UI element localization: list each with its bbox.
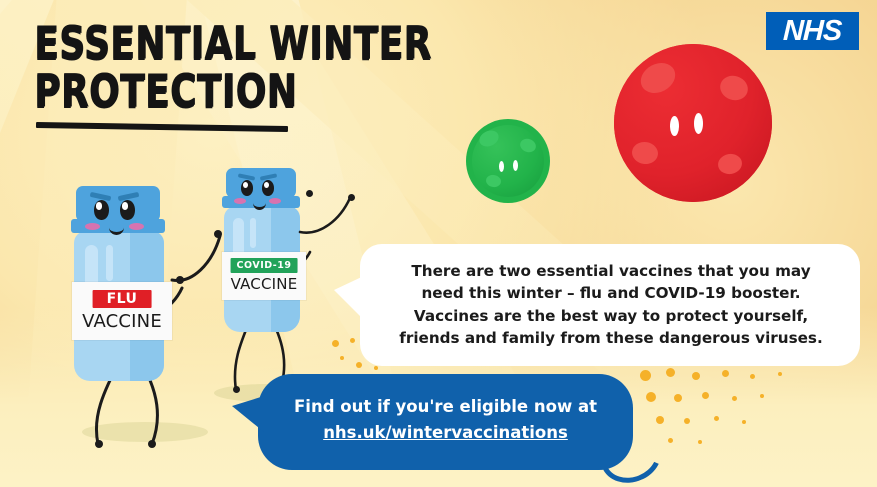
flu-vial-right-eye	[120, 200, 135, 220]
flu-vial-left-blush	[85, 223, 100, 230]
info-speech-bubble: There are two essential vaccines that yo…	[360, 244, 860, 366]
info-bubble-line-3: Vaccines are the best way to protect you…	[382, 305, 840, 327]
flu-vial-label: FLU VACCINE	[72, 282, 172, 340]
info-bubble-line-1: There are two essential vaccines that yo…	[382, 260, 840, 282]
green-virus-eye-highlight	[513, 160, 518, 171]
flu-vial-mouth	[109, 220, 124, 235]
flu-vial-cap	[76, 186, 160, 222]
page-title: ESSENTIAL WINTER PROTECTION	[34, 22, 514, 117]
flu-vial-vaccine-text: VACCINE	[82, 311, 162, 332]
cta-bubble-text: Find out if you're eligible now at nhs.u…	[272, 394, 619, 445]
flu-vaccine-character: FLU VACCINE	[58, 186, 228, 454]
covid-vial-left-foot	[233, 386, 240, 393]
nhs-winter-vaccination-poster: NHS ESSENTIAL WINTER PROTECTION	[0, 0, 877, 487]
green-virus-body	[466, 119, 550, 203]
red-virus-eye-highlight	[694, 113, 703, 134]
flu-vial-right-hand	[214, 230, 222, 238]
covid-vial-cap	[226, 168, 296, 198]
cta-bubble-tail	[232, 396, 264, 432]
flu-vial-badge: FLU	[93, 290, 152, 308]
covid-vial-right-eye	[262, 180, 274, 196]
halftone-dots-right	[636, 366, 806, 452]
covid-vial-right-blush	[269, 198, 281, 204]
green-virus	[452, 105, 564, 217]
headline-line-1: ESSENTIAL WINTER	[34, 22, 500, 65]
info-bubble-tail	[334, 274, 368, 324]
flu-vial-left-eye	[94, 200, 109, 220]
info-bubble-text: There are two essential vaccines that yo…	[382, 260, 840, 349]
flu-vial-right-blush	[129, 223, 144, 230]
info-bubble-line-2: need this winter – flu and COVID-19 boos…	[382, 282, 840, 304]
headline-line-2: PROTECTION	[34, 70, 500, 113]
green-virus-eye-highlight	[499, 161, 504, 172]
flu-vial-left-foot	[95, 440, 103, 448]
flu-vial-right-foot	[148, 440, 156, 448]
cta-url-link[interactable]: nhs.uk/wintervaccinations	[272, 420, 619, 446]
covid-vial-left-hand	[306, 190, 313, 197]
covid-vial-mouth	[253, 196, 266, 210]
covid-vial-left-eye	[241, 180, 253, 196]
covid-vial-right-hand	[348, 194, 355, 201]
flu-vial-left-hand	[176, 276, 184, 284]
cta-prompt-text: Find out if you're eligible now at	[294, 397, 597, 416]
red-virus-eye-highlight	[670, 116, 679, 136]
covid-vial-left-blush	[234, 198, 246, 204]
red-virus	[588, 18, 798, 228]
info-bubble-line-4: friends and family from these dangerous …	[382, 327, 840, 349]
cta-speech-bubble[interactable]: Find out if you're eligible now at nhs.u…	[258, 374, 633, 470]
red-virus-body	[614, 44, 772, 202]
